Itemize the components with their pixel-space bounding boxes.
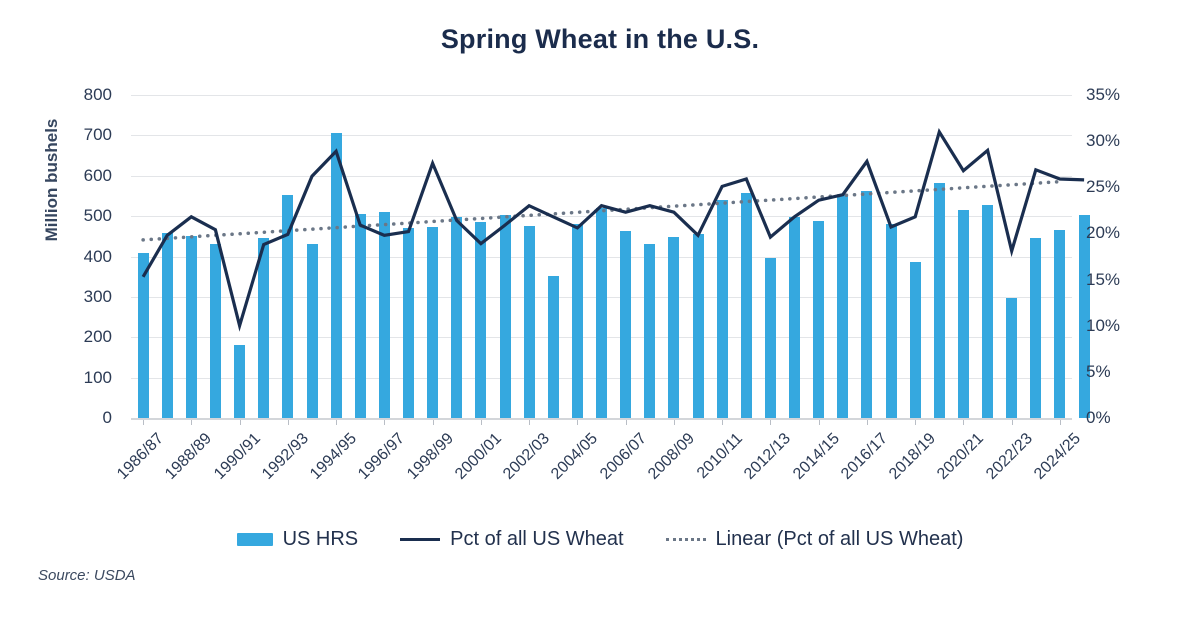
y-axis-tick-right: 25%: [1086, 177, 1156, 197]
chart-legend: US HRSPct of all US WheatLinear (Pct of …: [0, 528, 1200, 551]
x-axis-tick-mark: [336, 420, 337, 425]
y-axis-tick-right: 5%: [1086, 362, 1156, 382]
x-axis-tick-mark: [529, 420, 530, 425]
y-axis-tick-left: 100: [38, 368, 112, 388]
x-axis-tick-mark: [722, 420, 723, 425]
x-axis-tick-mark: [674, 420, 675, 425]
x-axis-tick-mark: [626, 420, 627, 425]
x-axis-line: [131, 418, 1072, 420]
x-axis-tick-mark: [288, 420, 289, 425]
line-pct-of-all-us-wheat: [143, 132, 1084, 326]
y-axis-tick-right: 0%: [1086, 408, 1156, 428]
x-axis-tick-mark: [1060, 420, 1061, 425]
y-axis-tick-left: 0: [38, 408, 112, 428]
y-axis-tick-left: 400: [38, 247, 112, 267]
x-axis-tick-mark: [143, 420, 144, 425]
legend-dotted-line-swatch-icon: [666, 538, 706, 541]
x-axis-tick-mark: [384, 420, 385, 425]
x-axis-tick-mark: [240, 420, 241, 425]
legend-item[interactable]: Pct of all US Wheat: [400, 528, 623, 551]
x-axis-tick-mark: [191, 420, 192, 425]
x-axis-tick-mark: [481, 420, 482, 425]
y-axis-tick-right: 15%: [1086, 270, 1156, 290]
plot-area: [131, 95, 1072, 418]
y-axis-tick-left: 300: [38, 287, 112, 307]
y-axis-tick-left: 800: [38, 85, 112, 105]
x-axis-tick-mark: [867, 420, 868, 425]
y-axis-tick-left: 600: [38, 166, 112, 186]
chart-container: Spring Wheat in the U.S. Million bushels…: [0, 0, 1200, 627]
y-axis-tick-left: 200: [38, 327, 112, 347]
legend-line-swatch-icon: [400, 538, 440, 541]
y-axis-tick-left: 700: [38, 125, 112, 145]
legend-item-label: US HRS: [283, 528, 359, 551]
legend-item[interactable]: US HRS: [237, 528, 359, 551]
x-axis-tick-mark: [577, 420, 578, 425]
y-axis-tick-right: 20%: [1086, 223, 1156, 243]
y-axis-tick-left: 500: [38, 206, 112, 226]
x-axis-tick-mark: [915, 420, 916, 425]
source-note: Source: USDA: [38, 567, 136, 584]
y-axis-tick-right: 10%: [1086, 316, 1156, 336]
legend-bar-swatch-icon: [237, 533, 273, 546]
x-axis-tick-mark: [963, 420, 964, 425]
x-axis-tick-mark: [819, 420, 820, 425]
legend-item[interactable]: Linear (Pct of all US Wheat): [666, 528, 964, 551]
legend-item-label: Linear (Pct of all US Wheat): [716, 528, 964, 551]
y-axis-tick-right: 35%: [1086, 85, 1156, 105]
x-axis-tick-mark: [1012, 420, 1013, 425]
x-axis-tick-mark: [433, 420, 434, 425]
x-axis-tick-mark: [770, 420, 771, 425]
chart-title: Spring Wheat in the U.S.: [0, 24, 1200, 55]
y-axis-tick-right: 30%: [1086, 131, 1156, 151]
legend-item-label: Pct of all US Wheat: [450, 528, 623, 551]
line-series-overlay: [131, 95, 1072, 418]
